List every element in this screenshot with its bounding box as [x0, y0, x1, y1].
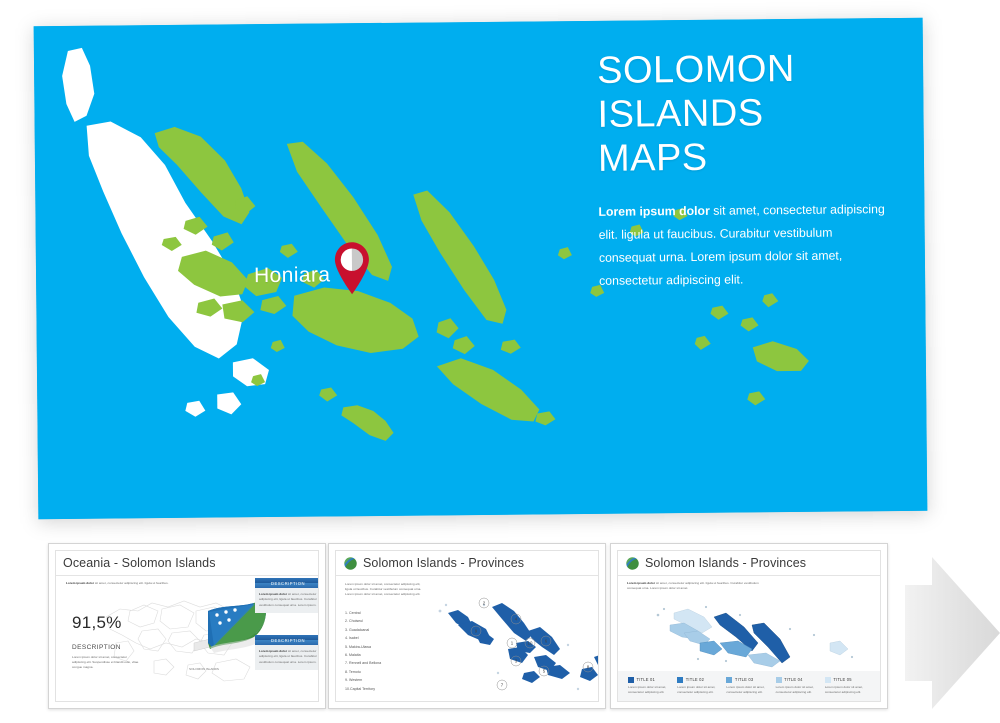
main-slide[interactable]: Honiara SOLOMON ISLANDS MAPS Lorem ipsum…	[34, 18, 928, 520]
legend-label: TITLE 01	[637, 677, 655, 682]
legend-label: TITLE 03	[735, 677, 753, 682]
list-item: 8. Temotu	[345, 668, 427, 676]
legend-item: TITLE 02 Lorem ipsum dolor sit amet, con…	[677, 677, 724, 695]
legend-swatch	[776, 677, 782, 683]
list-item: 2. Choiseul	[345, 617, 427, 625]
thumb1-desc-caption: DESCRIPTION	[72, 644, 121, 651]
list-item: 6. Malaita	[345, 651, 427, 659]
thumb1-desc-body: Lorem ipsum dolor sit amet, consectetur …	[72, 655, 140, 671]
list-item: 10.Capital Territory	[345, 685, 427, 693]
legend-item: TITLE 03 Lorem ipsum dolor sit amet, con…	[726, 677, 773, 695]
legend-swatch	[825, 677, 831, 683]
list-item: 7. Rennell and Bellona	[345, 659, 427, 667]
slide-title-line-1: SOLOMON	[597, 46, 897, 93]
thumb1-box2-header: DESCRIPTION	[255, 635, 319, 645]
thumbnail-slide-3[interactable]: Solomon Islands - Provinces Lorem ipsum …	[610, 543, 888, 709]
legend-body: Lorem ipsum dolor sit amet, consectetur …	[726, 685, 773, 695]
legend-label: TITLE 04	[784, 677, 802, 682]
thumb1-title: Oceania - Solomon Islands	[63, 556, 216, 570]
thumb1-box2-lead: Lorem ipsum dolor	[259, 649, 287, 653]
legend-swatch	[726, 677, 732, 683]
thumb1-box1-header: DESCRIPTION	[255, 578, 319, 588]
thumb3-choropleth-map	[640, 599, 870, 669]
thumb2-title: Solomon Islands - Provinces	[363, 556, 524, 570]
thumb1-intro-rest: sit amet, consectetur adipiscing elit. l…	[94, 581, 168, 585]
thumb2-header: Solomon Islands - Provinces	[336, 551, 598, 576]
thumb3-header: Solomon Islands - Provinces	[618, 551, 880, 576]
slide-body: Lorem ipsum dolor sit amet, consectetur …	[598, 198, 889, 293]
svg-text:2: 2	[483, 601, 486, 606]
svg-text:1: 1	[511, 641, 514, 646]
svg-text:10: 10	[528, 641, 533, 646]
city-label-honiara: Honiara	[254, 263, 331, 288]
legend-label: TITLE 05	[833, 677, 851, 682]
thumb1-box1-body: Lorem ipsum dolor sit amet, consectetur …	[255, 588, 319, 613]
thumb2-province-map: 24 91 106 35 78	[428, 585, 599, 699]
list-item: 4. Isabel	[345, 634, 427, 642]
globe-icon	[625, 556, 640, 571]
thumb1-intro: Lorem ipsum dolor sit amet, consectetur …	[66, 581, 184, 586]
legend-item: TITLE 04 Lorem ipsum dolor sit amet, con…	[776, 677, 823, 695]
slide-title-line-3: MAPS	[598, 134, 898, 181]
thumb2-province-list: 1. Central 2. Choiseul 3. Guadalcanal 4.…	[345, 609, 427, 693]
thumbnail-slide-1[interactable]: Oceania - Solomon Islands	[48, 543, 326, 709]
legend-label: TITLE 02	[686, 677, 704, 682]
legend-body: Lorem ipsum dolor sit amet, consectetur …	[628, 685, 675, 695]
thumb2-intro: Lorem ipsum dolor sit amet, consectetur …	[345, 582, 427, 598]
thumb1-intro-lead: Lorem ipsum dolor	[66, 581, 94, 585]
legend-item: TITLE 05 Lorem ipsum dolor sit amet, con…	[825, 677, 872, 695]
thumb1-description-box-2: DESCRIPTION Lorem ipsum dolor sit amet, …	[255, 635, 319, 670]
thumbnail-slide-2[interactable]: Solomon Islands - Provinces Lorem ipsum …	[328, 543, 606, 709]
slide-title-line-2: ISLANDS	[597, 90, 897, 137]
slide-body-text: Lorem ipsum dolor sit amet, consectetur …	[598, 198, 889, 293]
legend-swatch	[628, 677, 634, 683]
list-item: 3. Guadalcanal	[345, 626, 427, 634]
list-item: 9. Western	[345, 676, 427, 684]
thumb3-legend: TITLE 01 Lorem ipsum dolor sit amet, con…	[628, 677, 872, 695]
thumb3-intro-lead: Lorem ipsum dolor	[627, 581, 655, 585]
thumb1-header: Oceania - Solomon Islands	[56, 551, 318, 576]
list-item: 1. Central	[345, 609, 427, 617]
globe-icon	[343, 556, 358, 571]
next-slide-arrow[interactable]	[905, 557, 1000, 709]
legend-body: Lorem ipsum dolor sit amet, consectetur …	[677, 685, 724, 695]
thumb3-title: Solomon Islands - Provinces	[645, 556, 806, 570]
slide-title: SOLOMON ISLANDS MAPS	[597, 46, 898, 181]
thumb1-map-caption: SOLOMON ISLANDS	[184, 667, 224, 672]
slide-deck-preview: Honiara SOLOMON ISLANDS MAPS Lorem ipsum…	[0, 0, 1000, 723]
svg-text:7: 7	[501, 683, 504, 688]
slide-body-lead: Lorem ipsum dolor	[598, 204, 710, 219]
thumb1-percent: 91,5%	[72, 613, 122, 633]
thumb1-box1-lead: Lorem ipsum dolor	[259, 592, 287, 596]
thumb3-intro: Lorem ipsum dolor sit amet, consectetur …	[627, 581, 759, 591]
legend-body: Lorem ipsum dolor sit amet, consectetur …	[776, 685, 823, 695]
list-item: 5. Makira-Ulawa	[345, 643, 427, 651]
thumb1-description-box-1: DESCRIPTION Lorem ipsum dolor sit amet, …	[255, 578, 319, 613]
thumb1-box2-body: Lorem ipsum dolor sit amet, consectetur …	[255, 645, 319, 670]
legend-item: TITLE 01 Lorem ipsum dolor sit amet, con…	[628, 677, 675, 695]
legend-body: Lorem ipsum dolor sit amet, consectetur …	[825, 685, 872, 695]
legend-swatch	[677, 677, 683, 683]
